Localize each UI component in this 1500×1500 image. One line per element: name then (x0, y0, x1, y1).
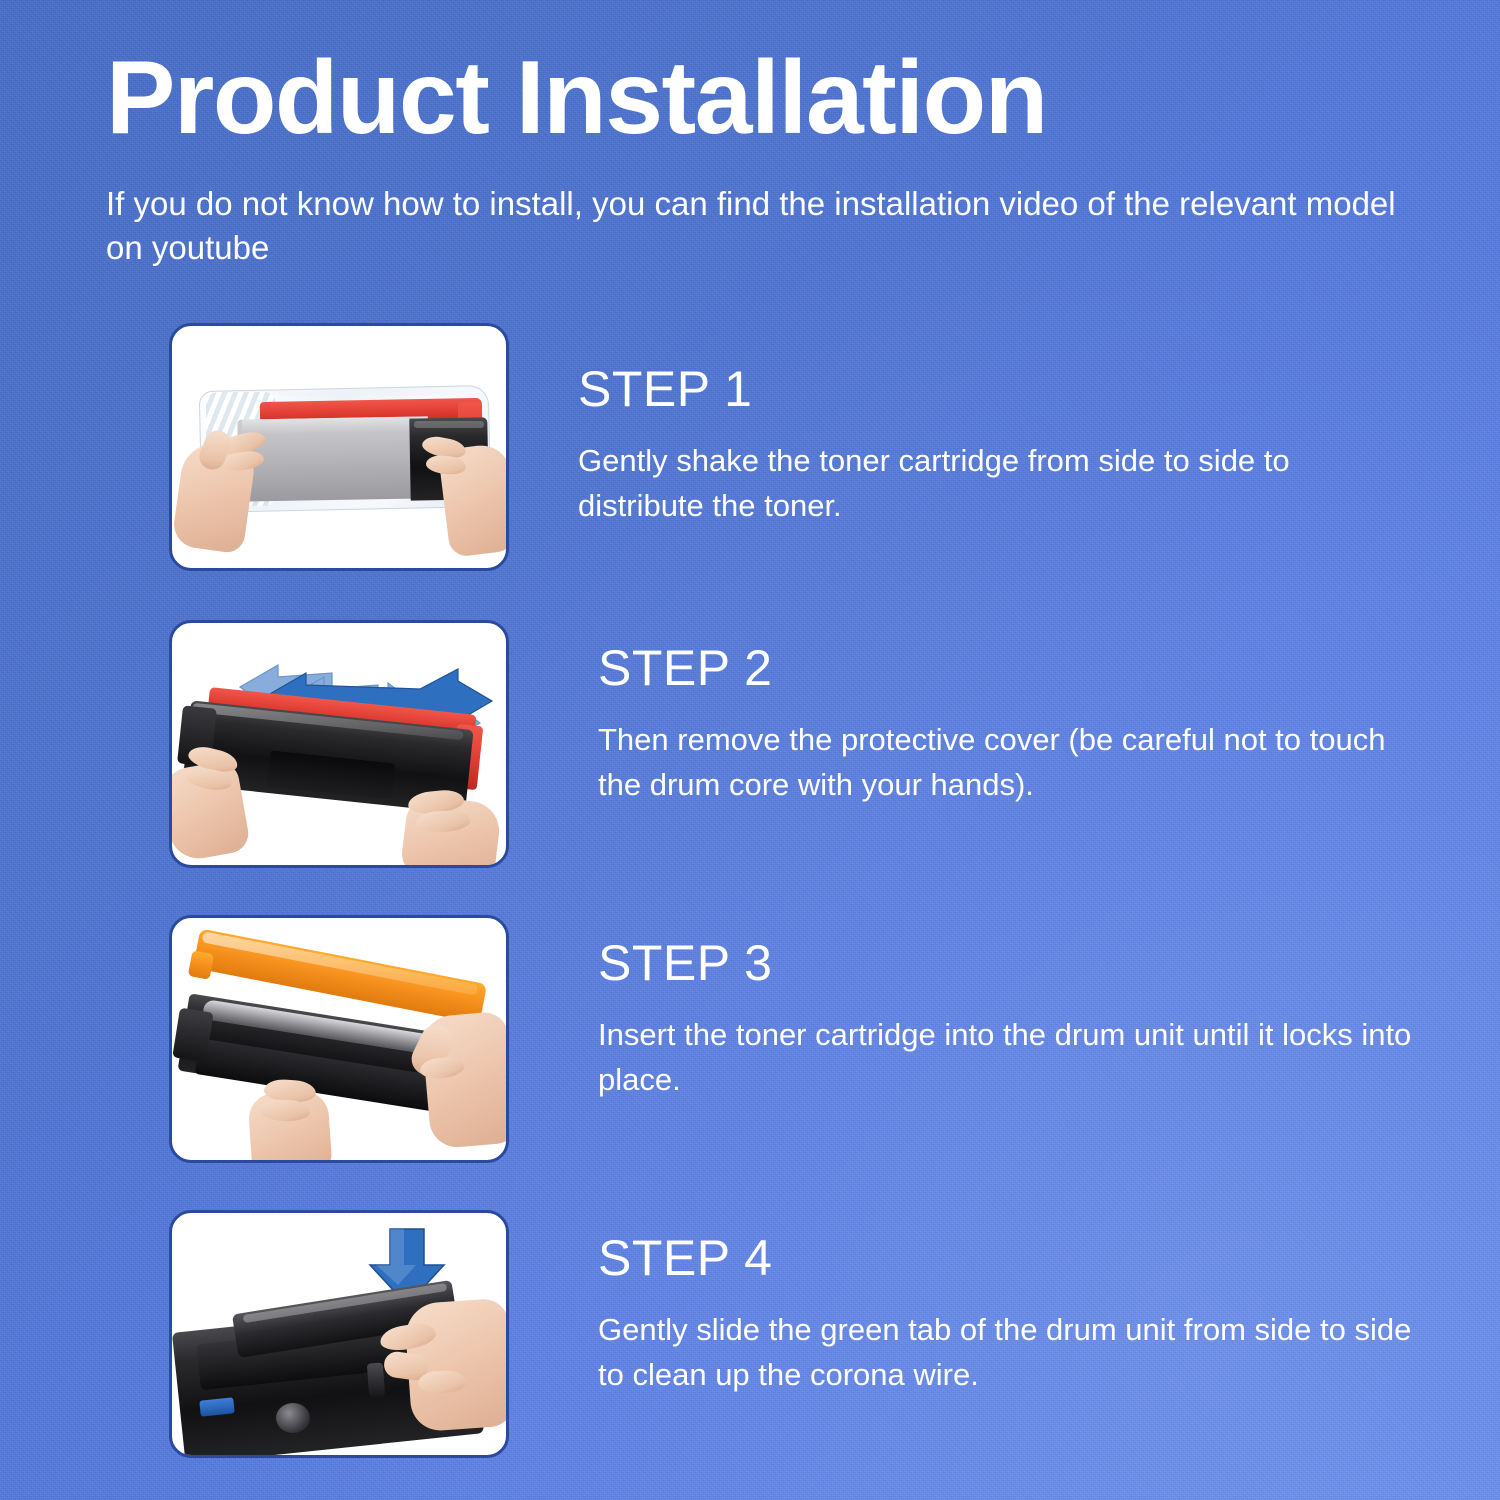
step-2-heading: STEP 2 (598, 642, 1418, 695)
illustration-slide-green-tab (172, 1213, 506, 1455)
page-subtitle: If you do not know how to install, you c… (106, 182, 1436, 270)
slider-grip-handle (367, 1362, 385, 1397)
step-4-description: Gently slide the green tab of the drum u… (598, 1307, 1418, 1399)
step-2-description: Then remove the protective cover (be car… (598, 717, 1418, 809)
drum-roller (276, 1403, 310, 1433)
product-installation-infographic: Product Installation If you do not know … (0, 0, 1500, 1500)
step-1-image-card (169, 323, 509, 571)
step-1-description: Gently shake the toner cartridge from si… (578, 438, 1398, 530)
step-4-text: STEP 4 Gently slide the green tab of the… (598, 1232, 1418, 1398)
step-4-image-card (169, 1210, 509, 1458)
step-2-image-card (169, 620, 509, 868)
step-3-description: Insert the toner cartridge into the drum… (598, 1012, 1418, 1104)
orange-cover-left-cap (188, 950, 215, 980)
step-4-heading: STEP 4 (598, 1232, 1418, 1285)
illustration-remove-orange-cover (172, 918, 506, 1160)
step-1-heading: STEP 1 (578, 363, 1398, 416)
illustration-bagged-cartridge (172, 326, 506, 568)
step-3-text: STEP 3 Insert the toner cartridge into t… (598, 937, 1418, 1103)
illustration-shake-cartridge (172, 623, 506, 865)
cartridge-grey-top-face (242, 416, 428, 435)
step-3-heading: STEP 3 (598, 937, 1418, 990)
page-title: Product Installation (106, 44, 1047, 153)
step-2-text: STEP 2 Then remove the protective cover … (598, 642, 1418, 808)
step-3-image-card (169, 915, 509, 1163)
cartridge-black-highlight (414, 421, 484, 428)
step-1-text: STEP 1 Gently shake the toner cartridge … (578, 363, 1398, 529)
